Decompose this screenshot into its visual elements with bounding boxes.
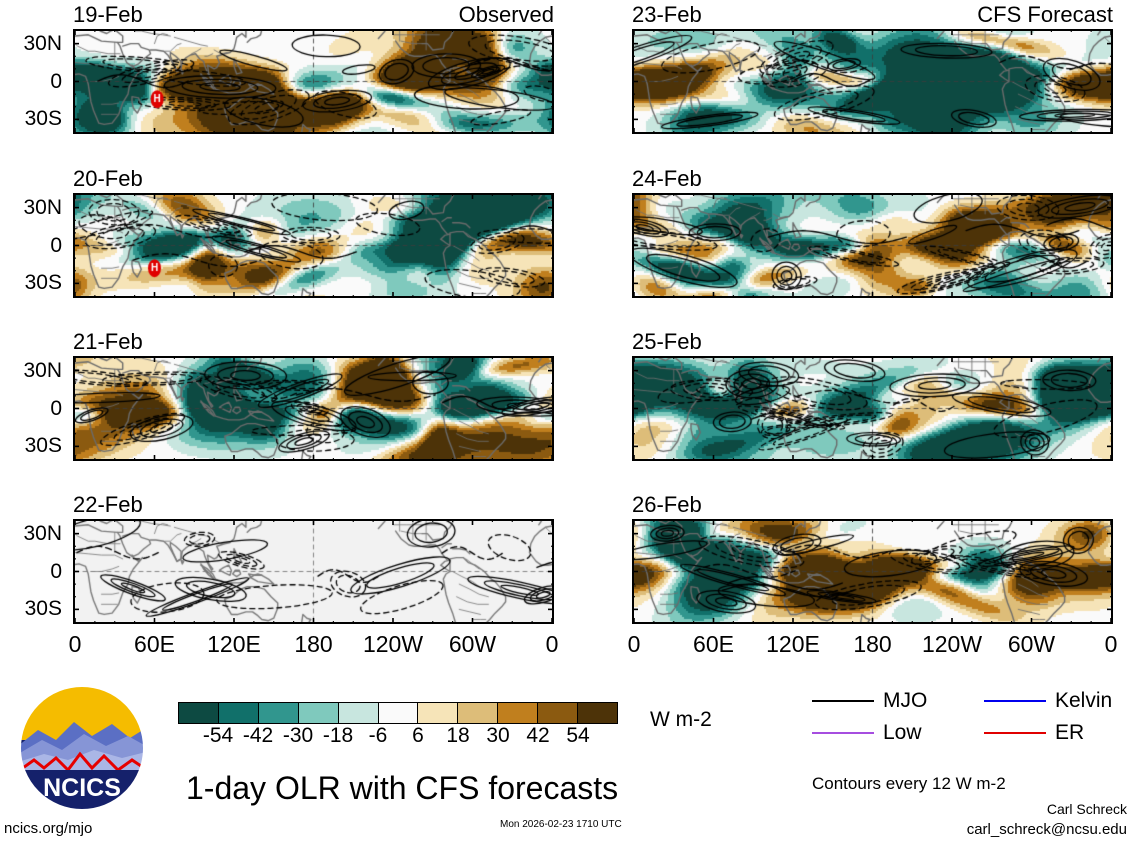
x-axis-label-right-120E: 120E: [766, 633, 820, 656]
colorbar-tick--42: -42: [243, 725, 273, 746]
y-axis-label-30N: 30N: [0, 523, 62, 544]
map-panel-26-feb: 26-Feb: [632, 494, 1113, 624]
colorbar-bin-4: [338, 703, 378, 723]
colorbar-bin-8: [497, 703, 537, 723]
x-axis-label-left-0: 0: [546, 633, 559, 656]
legend-line-low: [812, 732, 874, 734]
panel-grid: 19-FebObserved30N030S20-Feb30N030S21-Feb…: [0, 0, 1135, 672]
contour-legend: MJOKelvinLowER: [812, 690, 1132, 752]
panel-date-label: 20-Feb: [73, 168, 143, 190]
generation-timestamp: Mon 2026-02-23 1710 UTC: [500, 820, 622, 830]
colorbar-tick-18: 18: [446, 725, 469, 746]
x-axis-left: 060E120E180120W60W0: [73, 633, 554, 663]
colorbar-unit-label: W m-2: [650, 709, 712, 730]
legend-item-low: Low: [812, 722, 922, 743]
map-panel-23-feb: 23-FebCFS Forecast: [632, 4, 1113, 134]
author-name: Carl Schreck: [1047, 802, 1127, 816]
legend-label-er: ER: [1055, 722, 1084, 743]
olr-map-canvas-22-feb: [75, 521, 552, 622]
x-axis-label-left-120W: 120W: [363, 633, 423, 656]
panel-date-label: 23-Feb: [632, 4, 702, 26]
map-panel-21-feb: 21-Feb: [73, 331, 554, 461]
colorbar-bin-6: [417, 703, 457, 723]
contour-interval-note: Contours every 12 W m-2: [812, 775, 1006, 792]
column-header-right: CFS Forecast: [977, 4, 1113, 26]
colorbar-bin-2: [258, 703, 298, 723]
y-axis-label-30S: 30S: [0, 598, 62, 619]
olr-map-canvas-25-feb: [634, 358, 1111, 459]
colorbar-tick-30: 30: [486, 725, 509, 746]
map-panel-24-feb: 24-Feb: [632, 168, 1113, 298]
y-axis-label-30S: 30S: [0, 108, 62, 129]
olr-map-canvas-21-feb: [75, 358, 552, 459]
legend-line-kelvin: [984, 700, 1046, 702]
panel-date-label: 22-Feb: [73, 494, 143, 516]
colorbar-bin-9: [537, 703, 577, 723]
legend-label-low: Low: [883, 722, 922, 743]
y-axis-label-30N: 30N: [0, 33, 62, 54]
colorbar-bins: [178, 702, 618, 724]
olr-map-canvas-24-feb: [634, 195, 1111, 296]
map-box-23-feb: [632, 29, 1113, 134]
x-axis-label-right-60W: 60W: [1008, 633, 1055, 656]
x-axis-label-right-0: 0: [1105, 633, 1118, 656]
y-axis-label-30N: 30N: [0, 197, 62, 218]
map-box-24-feb: [632, 193, 1113, 298]
y-axis-label-0: 0: [0, 235, 62, 256]
x-axis-label-left-60W: 60W: [449, 633, 496, 656]
legend-label-mjo: MJO: [883, 690, 927, 711]
x-axis-label-left-180: 180: [294, 633, 332, 656]
map-box-20-feb: [73, 193, 554, 298]
colorbar-tick-54: 54: [566, 725, 589, 746]
map-panel-19-feb: 19-FebObserved: [73, 4, 554, 134]
colorbar-bin-7: [457, 703, 497, 723]
x-axis-label-right-180: 180: [853, 633, 891, 656]
legend-line-er: [984, 732, 1046, 734]
colorbar-tick-6: 6: [412, 725, 424, 746]
olr-map-canvas-19-feb: [75, 31, 552, 132]
ncics-logo: NCICS: [18, 684, 146, 812]
map-box-25-feb: [632, 356, 1113, 461]
legend-item-mjo: MJO: [812, 690, 927, 711]
olr-map-canvas-23-feb: [634, 31, 1111, 132]
x-axis-right: 060E120E180120W60W0: [632, 633, 1113, 663]
y-axis-label-30S: 30S: [0, 272, 62, 293]
x-axis-label-left-120E: 120E: [207, 633, 261, 656]
x-axis-label-right-120W: 120W: [922, 633, 982, 656]
y-axis-label-30S: 30S: [0, 435, 62, 456]
colorbar-ticks: -54-42-30-18-6618304254: [178, 725, 618, 751]
colorbar-tick--6: -6: [369, 725, 388, 746]
panel-date-label: 21-Feb: [73, 331, 143, 353]
panel-date-label: 19-Feb: [73, 4, 143, 26]
colorbar-tick--18: -18: [323, 725, 353, 746]
author-email: carl_schreck@ncsu.edu: [967, 822, 1127, 837]
olr-map-canvas-20-feb: [75, 195, 552, 296]
main-title: 1-day OLR with CFS forecasts: [186, 772, 618, 804]
map-box-26-feb: [632, 519, 1113, 624]
map-panel-20-feb: 20-Feb: [73, 168, 554, 298]
website-url: ncics.org/mjo: [4, 821, 92, 836]
colorbar-bin-5: [378, 703, 418, 723]
ncics-logo-icon: NCICS: [18, 684, 146, 812]
colorbar-tick--30: -30: [283, 725, 313, 746]
x-axis-label-right-0: 0: [628, 633, 641, 656]
legend-item-kelvin: Kelvin: [984, 690, 1112, 711]
legend-line-mjo: [812, 700, 874, 702]
map-panel-25-feb: 25-Feb: [632, 331, 1113, 461]
panel-date-label: 25-Feb: [632, 331, 702, 353]
y-axis-label-0: 0: [0, 71, 62, 92]
olr-map-canvas-26-feb: [634, 521, 1111, 622]
colorbar-bin-0: [179, 703, 218, 723]
x-axis-label-right-60E: 60E: [693, 633, 734, 656]
map-box-21-feb: [73, 356, 554, 461]
map-box-19-feb: [73, 29, 554, 134]
legend-label-kelvin: Kelvin: [1055, 690, 1112, 711]
panel-date-label: 26-Feb: [632, 494, 702, 516]
map-panel-22-feb: 22-Feb: [73, 494, 554, 624]
y-axis-label-30N: 30N: [0, 360, 62, 381]
colorbar: -54-42-30-18-6618304254: [178, 702, 618, 751]
ncics-logo-text: NCICS: [43, 774, 121, 802]
colorbar-bin-10: [577, 703, 617, 723]
colorbar-tick--54: -54: [203, 725, 233, 746]
colorbar-bin-1: [218, 703, 258, 723]
colorbar-tick-42: 42: [526, 725, 549, 746]
y-axis-label-0: 0: [0, 561, 62, 582]
map-box-22-feb: [73, 519, 554, 624]
y-axis-label-0: 0: [0, 398, 62, 419]
x-axis-label-left-0: 0: [69, 633, 82, 656]
colorbar-bin-3: [298, 703, 338, 723]
legend-item-er: ER: [984, 722, 1084, 743]
panel-date-label: 24-Feb: [632, 168, 702, 190]
x-axis-label-left-60E: 60E: [134, 633, 175, 656]
column-header-left: Observed: [459, 4, 554, 26]
